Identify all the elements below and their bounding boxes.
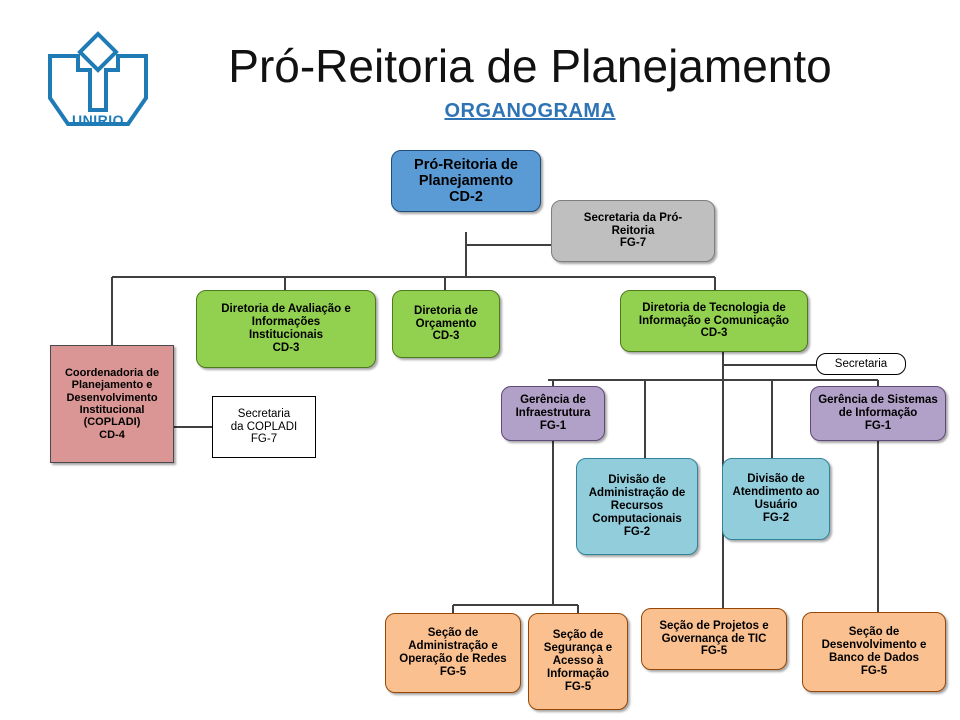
node-diretoria-tic[interactable]: Diretoria de Tecnologia de Informação e … [620, 290, 808, 352]
node-secretaria-pro-reitoria-line2: Reitoria [556, 225, 710, 238]
node-copladi-line2: Planejamento e [55, 379, 169, 391]
node-root-line1: Pró-Reitoria de [396, 157, 536, 173]
node-divisao-recursos-line3: Recursos [581, 500, 693, 513]
node-secretaria-copladi-line1: Secretaria [217, 408, 311, 421]
node-diretoria-tic-line1: Diretoria de Tecnologia de [625, 302, 803, 315]
node-diretoria-avaliacao[interactable]: Diretoria de Avaliação e Informações Ins… [196, 290, 376, 368]
node-secao-desenvolvimento-line4: FG-5 [807, 665, 941, 678]
node-secretaria-tic[interactable]: Secretaria [816, 353, 906, 375]
node-diretoria-tic-line3: CD-3 [625, 327, 803, 340]
node-diretoria-orcamento-line1: Diretoria de [397, 305, 495, 318]
node-root-line3: CD-2 [396, 189, 536, 205]
node-copladi-line1: Coordenadoria de [55, 367, 169, 379]
node-diretoria-orcamento-line3: CD-3 [397, 330, 495, 343]
node-secao-desenvolvimento-line1: Seção de [807, 626, 941, 639]
node-diretoria-avaliacao-line4: CD-3 [201, 342, 371, 355]
node-gerencia-infraestrutura-line3: FG-1 [506, 420, 600, 433]
node-secao-redes-line4: FG-5 [390, 666, 516, 679]
node-secao-desenvolvimento[interactable]: Seção de Desenvolvimento e Banco de Dado… [802, 612, 946, 692]
node-diretoria-avaliacao-line1: Diretoria de Avaliação e [201, 303, 371, 316]
node-secao-seguranca[interactable]: Seção de Segurança e Acesso à Informação… [528, 613, 628, 710]
node-secretaria-copladi-line3: FG-7 [217, 433, 311, 446]
node-divisao-recursos-line4: Computacionais [581, 513, 693, 526]
node-copladi[interactable]: Coordenadoria de Planejamento e Desenvol… [50, 345, 174, 463]
node-divisao-recursos-line2: Administração de [581, 487, 693, 500]
node-divisao-atendimento-line1: Divisão de [727, 473, 825, 486]
node-divisao-atendimento-line2: Atendimento ao [727, 486, 825, 499]
node-secretaria-copladi-line2: da COPLADI [217, 421, 311, 434]
node-gerencia-sistemas-line2: de Informação [815, 407, 941, 420]
node-secao-projetos-governanca[interactable]: Seção de Projetos e Governança de TIC FG… [641, 608, 787, 670]
node-gerencia-infraestrutura-line2: Infraestrutura [506, 407, 600, 420]
node-secao-redes[interactable]: Seção de Administração e Operação de Red… [385, 613, 521, 693]
node-copladi-line5: (COPLADI) [55, 416, 169, 428]
node-secao-projetos-line3: FG-5 [646, 645, 782, 658]
node-copladi-line3: Desenvolvimento [55, 392, 169, 404]
node-diretoria-avaliacao-line2: Informações [201, 316, 371, 329]
node-root[interactable]: Pró-Reitoria de Planejamento CD-2 [391, 150, 541, 212]
node-divisao-recursos-computacionais[interactable]: Divisão de Administração de Recursos Com… [576, 458, 698, 555]
node-gerencia-sistemas-line3: FG-1 [815, 420, 941, 433]
node-secretaria-tic-line1: Secretaria [821, 358, 901, 371]
node-secretaria-pro-reitoria-line1: Secretaria da Pró- [556, 212, 710, 225]
node-diretoria-orcamento[interactable]: Diretoria de Orçamento CD-3 [392, 290, 500, 358]
node-secao-seguranca-line1: Seção de [533, 629, 623, 642]
node-diretoria-orcamento-line2: Orçamento [397, 318, 495, 331]
node-diretoria-tic-line2: Informação e Comunicação [625, 315, 803, 328]
node-secao-redes-line2: Administração e [390, 640, 516, 653]
node-secao-redes-line3: Operação de Redes [390, 653, 516, 666]
node-divisao-recursos-line1: Divisão de [581, 474, 693, 487]
node-divisao-atendimento-line4: FG-2 [727, 512, 825, 525]
node-secao-seguranca-line2: Segurança e [533, 642, 623, 655]
node-gerencia-infraestrutura[interactable]: Gerência de Infraestrutura FG-1 [501, 386, 605, 441]
node-secao-projetos-line2: Governança de TIC [646, 633, 782, 646]
node-gerencia-infraestrutura-line1: Gerência de [506, 394, 600, 407]
node-secao-seguranca-line3: Acesso à [533, 655, 623, 668]
node-divisao-atendimento-usuario[interactable]: Divisão de Atendimento ao Usuário FG-2 [722, 458, 830, 540]
node-secao-seguranca-line4: Informação [533, 668, 623, 681]
node-secao-redes-line1: Seção de [390, 627, 516, 640]
node-secao-desenvolvimento-line3: Banco de Dados [807, 652, 941, 665]
node-root-line2: Planejamento [396, 173, 536, 189]
node-divisao-atendimento-line3: Usuário [727, 499, 825, 512]
organogram-canvas: UNIRIO Pró-Reitoria de Planejamento ORGA… [0, 0, 960, 720]
node-secretaria-pro-reitoria-line3: FG-7 [556, 237, 710, 250]
node-secretaria-pro-reitoria[interactable]: Secretaria da Pró- Reitoria FG-7 [551, 200, 715, 262]
node-secao-desenvolvimento-line2: Desenvolvimento e [807, 639, 941, 652]
node-secretaria-copladi[interactable]: Secretaria da COPLADI FG-7 [212, 396, 316, 458]
node-copladi-line4: Institucional [55, 404, 169, 416]
node-gerencia-sistemas-line1: Gerência de Sistemas [815, 394, 941, 407]
node-divisao-recursos-line5: FG-2 [581, 526, 693, 539]
node-diretoria-avaliacao-line3: Institucionais [201, 329, 371, 342]
node-secao-projetos-line1: Seção de Projetos e [646, 620, 782, 633]
node-copladi-line6: CD-4 [55, 429, 169, 441]
node-gerencia-sistemas-informacao[interactable]: Gerência de Sistemas de Informação FG-1 [810, 386, 946, 441]
node-secao-seguranca-line5: FG-5 [533, 681, 623, 694]
